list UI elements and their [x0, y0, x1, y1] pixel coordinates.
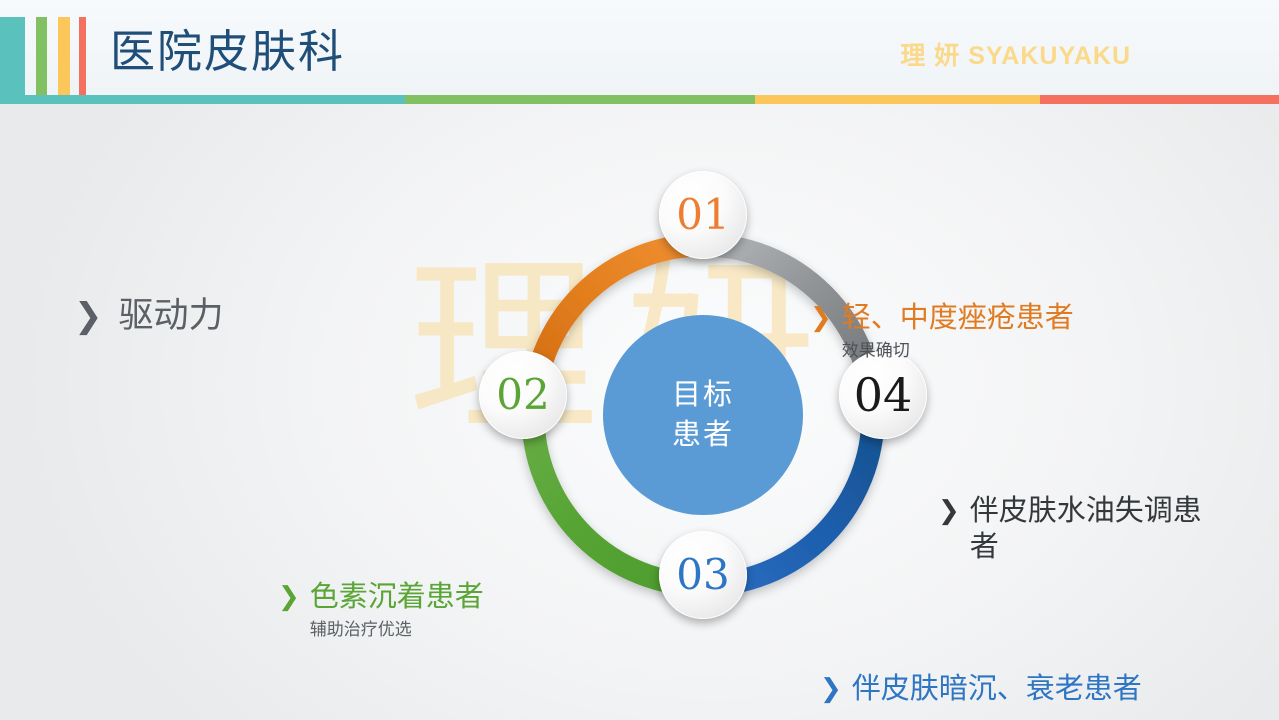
deco-bar-green	[36, 17, 47, 100]
deco-bar-red	[79, 17, 86, 100]
center-line-2: 患者	[672, 415, 734, 455]
section-heading-label: 驱动力	[119, 297, 224, 336]
rule-segment-yellow	[755, 95, 1040, 104]
callout-02-title: 色素沉着患者	[310, 579, 484, 615]
slide: 医院皮肤科 理 妍 SYAKUYAKU 理妍 ❯ 驱动力	[0, 0, 1279, 720]
callout-01-subtitle: 效果确切	[842, 338, 1074, 364]
callout-01: ❯ 轻、中度痤疮患者 效果确切	[810, 300, 1074, 364]
deco-bar-teal	[0, 17, 25, 100]
callout-02: ❯ 色素沉着患者 辅助治疗优选	[278, 579, 484, 643]
node-badge-02[interactable]: 02	[479, 351, 567, 439]
rule-segment-green	[405, 95, 755, 104]
header-decoration-bars	[0, 17, 90, 100]
callout-04-title: 伴皮肤水油失调患者	[970, 493, 1208, 565]
callout-03-title: 伴皮肤暗沉、衰老患者	[852, 671, 1142, 707]
node-badge-01[interactable]: 01	[659, 171, 747, 259]
slide-body: 理妍 ❯ 驱动力	[0, 104, 1279, 720]
callout-04: ❯ 伴皮肤水油失调患者	[938, 493, 1208, 565]
callout-01-title: 轻、中度痤疮患者	[842, 300, 1074, 336]
brand-logo-text: 理 妍 SYAKUYAKU	[900, 36, 1131, 72]
slide-header: 医院皮肤科 理 妍 SYAKUYAKU	[0, 0, 1279, 104]
chevron-right-icon: ❯	[820, 671, 842, 705]
chevron-right-icon: ❯	[278, 579, 300, 613]
callout-03: ❯ 伴皮肤暗沉、衰老患者	[820, 671, 1142, 707]
deco-bar-yellow	[58, 17, 70, 100]
cycle-diagram: 目标 患者 01 02 03 04	[503, 215, 903, 615]
chevron-right-icon: ❯	[938, 493, 960, 527]
chevron-right-icon: ❯	[810, 300, 832, 334]
node-badge-03[interactable]: 03	[659, 531, 747, 619]
center-line-1: 目标	[672, 375, 734, 415]
header-color-rule	[0, 95, 1279, 104]
callout-02-subtitle: 辅助治疗优选	[310, 617, 484, 643]
rule-segment-red	[1040, 95, 1279, 104]
section-heading-driver: ❯ 驱动力	[74, 297, 224, 336]
center-circle: 目标 患者	[603, 315, 803, 515]
chevron-right-icon: ❯	[74, 299, 103, 333]
page-title: 医院皮肤科	[110, 22, 345, 82]
node-badge-04[interactable]: 04	[839, 351, 927, 439]
rule-segment-teal	[0, 95, 405, 104]
